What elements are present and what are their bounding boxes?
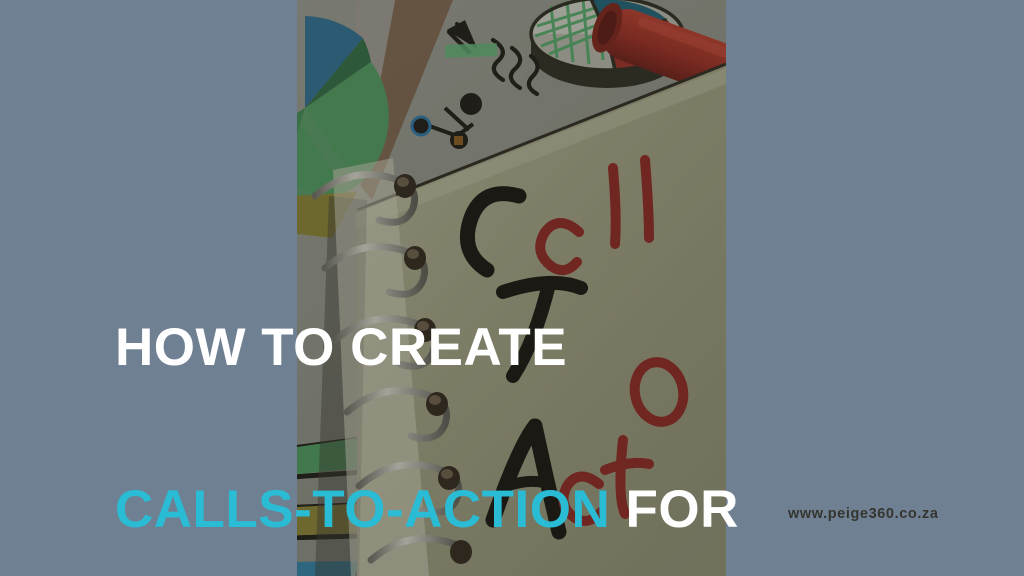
photo-illustration [297, 0, 726, 576]
background-photo [297, 0, 726, 576]
website-url-watermark: www.peige360.co.za [788, 506, 938, 522]
banner-canvas: HOW TO CREATE CALLS-TO-ACTION FOR YOUR W… [0, 0, 1024, 576]
